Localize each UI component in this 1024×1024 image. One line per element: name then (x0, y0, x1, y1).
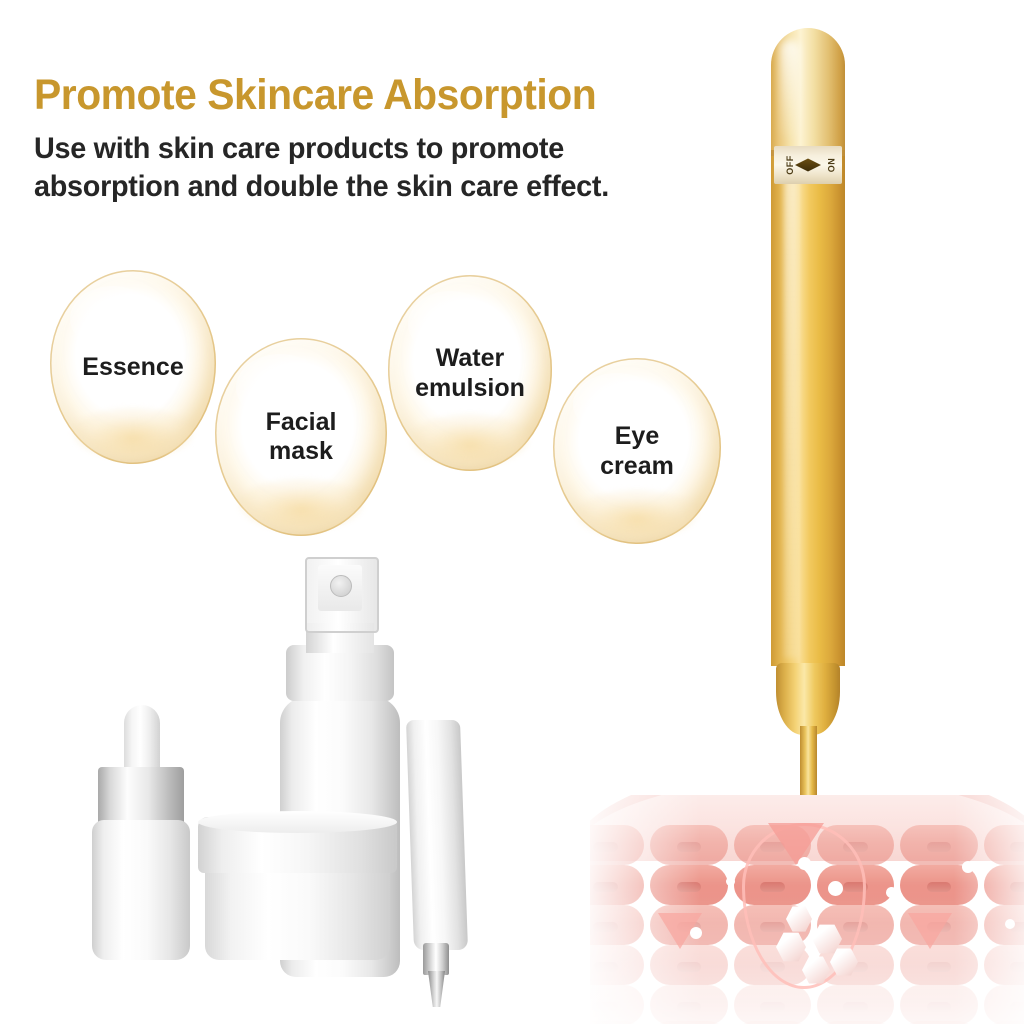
promo-image-canvas: Promote Skincare Absorption Use with ski… (0, 0, 1024, 1024)
skincare-product-group (80, 545, 530, 1000)
skin-cell (650, 945, 727, 985)
skin-cell (984, 865, 1024, 905)
page-subtitle: Use with skin care products to promote a… (34, 130, 744, 207)
droplet-label-facial-mask: Facial mask (266, 408, 337, 466)
switch-off-label: OFF (785, 155, 795, 175)
device-handle (771, 156, 845, 666)
spray-bottle-collar (286, 645, 394, 701)
skin-cell (590, 865, 644, 905)
skin-cell (590, 905, 644, 945)
switch-knob-icon[interactable] (795, 159, 821, 172)
droplet-lower-glow (73, 408, 193, 458)
molecule-dot-icon (962, 861, 974, 873)
skin-cell (590, 945, 644, 985)
skin-cross-section (590, 795, 1024, 1024)
cream-tube-tip (428, 971, 445, 1007)
droplet-label-line-1: Essence (82, 353, 183, 381)
cream-tube (406, 720, 468, 950)
skin-cell (650, 825, 727, 865)
droplet-essence: Essence (50, 270, 216, 464)
droplet-label-line-2: emulsion (415, 373, 525, 403)
power-switch[interactable]: OFF ON (774, 146, 842, 184)
droplet-label-essence: Essence (82, 353, 183, 382)
droplet-label-line-2: mask (266, 437, 337, 466)
droplet-eye-cream: Eye cream (553, 358, 721, 544)
skin-cell (984, 985, 1024, 1024)
droplet-highlight (70, 286, 156, 352)
skin-cell (650, 985, 727, 1024)
skin-cell (734, 985, 811, 1024)
skin-cell (900, 825, 977, 865)
molecule-dot-icon (726, 877, 735, 886)
switch-on-label: ON (826, 158, 836, 173)
device-cap-highlight (780, 40, 800, 140)
skin-cell (590, 825, 644, 865)
molecule-dot-icon (690, 927, 702, 939)
droplet-label-water-emulsion: Water emulsion (415, 343, 525, 403)
droplet-label-line-1: Facial (266, 408, 337, 437)
droplet-lower-glow (577, 490, 698, 538)
skin-cell-row (590, 985, 1024, 1024)
droplet-water-emulsion: Water emulsion (388, 275, 552, 471)
molecule-dot-icon (1005, 919, 1015, 929)
dropper-bottle (92, 820, 190, 960)
skin-cell (984, 905, 1024, 945)
skin-cell (590, 985, 644, 1024)
device-handle-highlight (784, 163, 798, 658)
subtitle-line-1: Use with skin care products to promote (34, 130, 744, 168)
droplet-label-line-1: Eye (600, 421, 674, 451)
skin-cell (984, 945, 1024, 985)
droplet-label-eye-cream: Eye cream (600, 421, 674, 481)
gold-beauty-bar-device: OFF ON (700, 18, 940, 848)
absorption-arrow-icon (768, 823, 824, 865)
skin-cell (900, 945, 977, 985)
device-taper (776, 663, 840, 735)
skin-cell (900, 985, 977, 1024)
droplet-facial-mask: Facial mask (215, 338, 387, 536)
cream-jar-lid-top (198, 811, 397, 833)
cream-tube-nozzle (423, 943, 449, 975)
subtitle-line-2: absorption and double the skin care effe… (34, 168, 744, 206)
molecule-dot-icon (798, 857, 811, 870)
droplet-label-line-2: cream (600, 451, 674, 481)
absorption-arrow-icon (908, 913, 952, 949)
molecule-dot-icon (886, 887, 897, 898)
spray-nozzle-icon (330, 575, 352, 597)
droplet-lower-glow (411, 414, 529, 465)
skin-cell (650, 865, 727, 905)
skin-cell (817, 985, 894, 1024)
molecule-dot-icon (828, 881, 843, 896)
droplet-lower-glow (239, 479, 363, 530)
skin-cell (984, 825, 1024, 865)
page-title: Promote Skincare Absorption (34, 74, 728, 117)
droplet-label-line-1: Water (415, 343, 525, 373)
